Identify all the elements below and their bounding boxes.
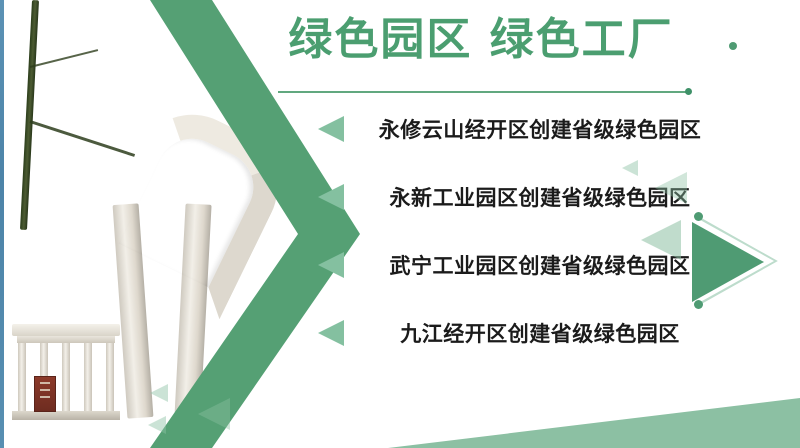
accent-dot-icon: [729, 42, 737, 50]
pergola-roof-lower: [17, 336, 115, 343]
title-underline-line: [278, 91, 686, 93]
decorative-triangle-icon: [150, 384, 168, 402]
decorative-triangle-icon: [622, 160, 638, 176]
pergola-roof: [12, 324, 120, 336]
sign-line: [40, 389, 50, 391]
emblem-node-bottom: [694, 300, 703, 309]
sign-line: [40, 382, 50, 384]
pergola-column: [62, 343, 70, 413]
triangle-emblem-icon: [690, 216, 798, 324]
decorative-triangle-icon: [641, 220, 681, 260]
pergola-column: [18, 343, 26, 413]
triangle-bullet-icon: [318, 116, 344, 142]
title-underline-dot: [685, 88, 692, 95]
page-title: 绿色园区 绿色工厂: [256, 12, 706, 67]
list-item-label: 九江经开区创建省级绿色园区: [360, 318, 720, 348]
slide-canvas: 绿色园区 绿色工厂 永修云山经开区创建省级绿色园区 永新工业园区创建省级绿色园区…: [0, 0, 800, 448]
decorative-triangle-icon: [198, 398, 230, 430]
park-sign: [34, 376, 56, 412]
triangle-bullet-icon: [318, 184, 344, 210]
bottom-wedge-shape: [340, 398, 800, 448]
triangle-solid-icon: [692, 222, 764, 302]
sign-line: [40, 396, 50, 398]
list-item[interactable]: 九江经开区创建省级绿色园区: [300, 308, 720, 376]
title-underline: [278, 88, 692, 96]
pergola-column: [106, 343, 114, 413]
decorative-triangle-icon: [148, 416, 166, 434]
photo-left-edge-strip: [0, 0, 4, 448]
triangle-bullet-icon: [318, 252, 344, 278]
decorative-triangle-icon: [655, 172, 687, 204]
park-photo: [0, 0, 310, 448]
pergola-base: [12, 411, 120, 420]
list-item-label: 永修云山经开区创建省级绿色园区: [360, 114, 720, 144]
pergola-column: [84, 343, 92, 413]
list-item[interactable]: 永修云山经开区创建省级绿色园区: [300, 104, 720, 172]
pergola-structure: [12, 324, 120, 420]
emblem-node-top: [694, 212, 703, 221]
triangle-bullet-icon: [318, 320, 344, 346]
